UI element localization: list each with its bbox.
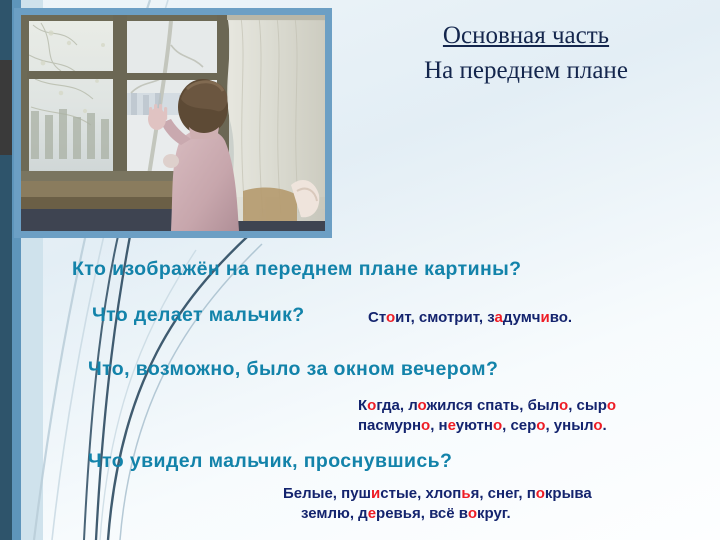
page-title: Основная часть <box>340 22 712 51</box>
highlighted-letter: о <box>421 417 430 434</box>
boy-at-frosty-window-painting <box>21 15 325 231</box>
question-4: Что увидел мальчик, проснувшись? <box>88 450 452 473</box>
slide-canvas: Основная часть На переднем плане Кто изо… <box>0 0 720 540</box>
highlighted-letter: о <box>593 417 602 434</box>
page-subtitle: На переднем плане <box>340 55 712 88</box>
painting-frame <box>14 8 332 238</box>
highlighted-letter: и <box>371 485 380 502</box>
answer-line: пасмурно, неуютно, серо, уныло. <box>358 416 616 436</box>
question-2: Что делает мальчик? <box>92 304 305 327</box>
answer-line: Стоит, смотрит, задумчиво. <box>368 308 572 328</box>
question-3: Что, возможно, было за окном вечером? <box>88 358 498 381</box>
highlighted-letter: о <box>468 505 477 522</box>
highlighted-letter: о <box>367 397 376 414</box>
answer-1: Стоит, смотрит, задумчиво. <box>368 308 572 328</box>
left-accent-block-charcoal <box>0 60 12 155</box>
highlighted-letter: е <box>448 417 456 434</box>
answer-line: землю, деревья, всё вокруг. <box>283 504 592 524</box>
answer-2: Когда, ложился спать, было, сыропасмурно… <box>358 396 616 437</box>
highlighted-letter: о <box>607 397 616 414</box>
highlighted-letter: ь <box>461 485 470 502</box>
highlighted-letter: о <box>536 485 545 502</box>
answer-3: Белые, пушистые, хлопья, снег, покрывазе… <box>283 484 592 525</box>
highlighted-letter: о <box>493 417 502 434</box>
answer-line: Когда, ложился спать, было, сыро <box>358 396 616 416</box>
highlighted-letter: и <box>541 309 550 326</box>
question-1: Кто изображён на переднем плане картины? <box>72 258 522 281</box>
highlighted-letter: е <box>368 505 376 522</box>
highlighted-letter: о <box>418 397 427 414</box>
highlighted-letter: о <box>559 397 568 414</box>
answer-line: Белые, пушистые, хлопья, снег, покрыва <box>283 484 592 504</box>
title-block: Основная часть На переднем плане <box>340 22 712 87</box>
highlighted-letter: о <box>386 309 395 326</box>
highlighted-letter: а <box>495 309 503 326</box>
